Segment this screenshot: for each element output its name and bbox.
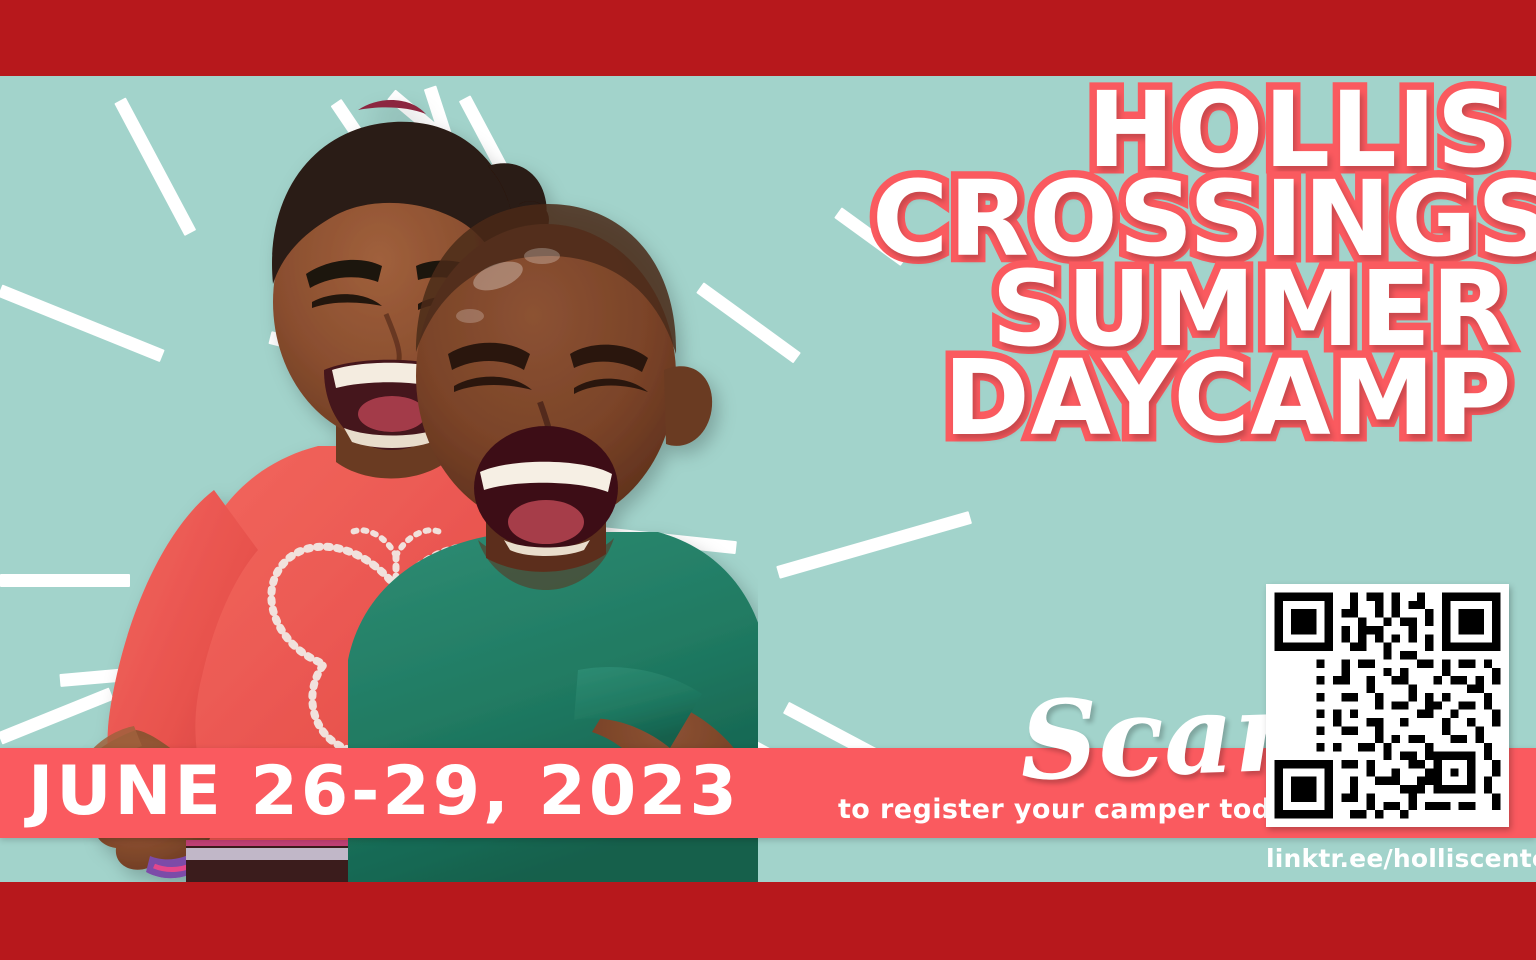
top-border-band — [0, 0, 1536, 76]
headline-block: HOLLIS CROSSINGS SUMMER DAYCAMP — [872, 86, 1512, 444]
poster-canvas: HOLLIS CROSSINGS SUMMER DAYCAMP — [0, 0, 1536, 960]
camp-dates: JUNE 26-29, 2023 — [28, 752, 740, 831]
poster-stage: HOLLIS CROSSINGS SUMMER DAYCAMP — [0, 76, 1536, 882]
headline-line-4: DAYCAMP — [872, 354, 1512, 443]
burst-ray — [776, 511, 972, 579]
qr-code[interactable] — [1266, 584, 1509, 827]
registration-url[interactable]: linktr.ee/holliscenter — [1266, 844, 1509, 873]
scan-subtitle: to register your camper today! — [838, 794, 1320, 825]
bottom-border-band — [0, 882, 1536, 960]
